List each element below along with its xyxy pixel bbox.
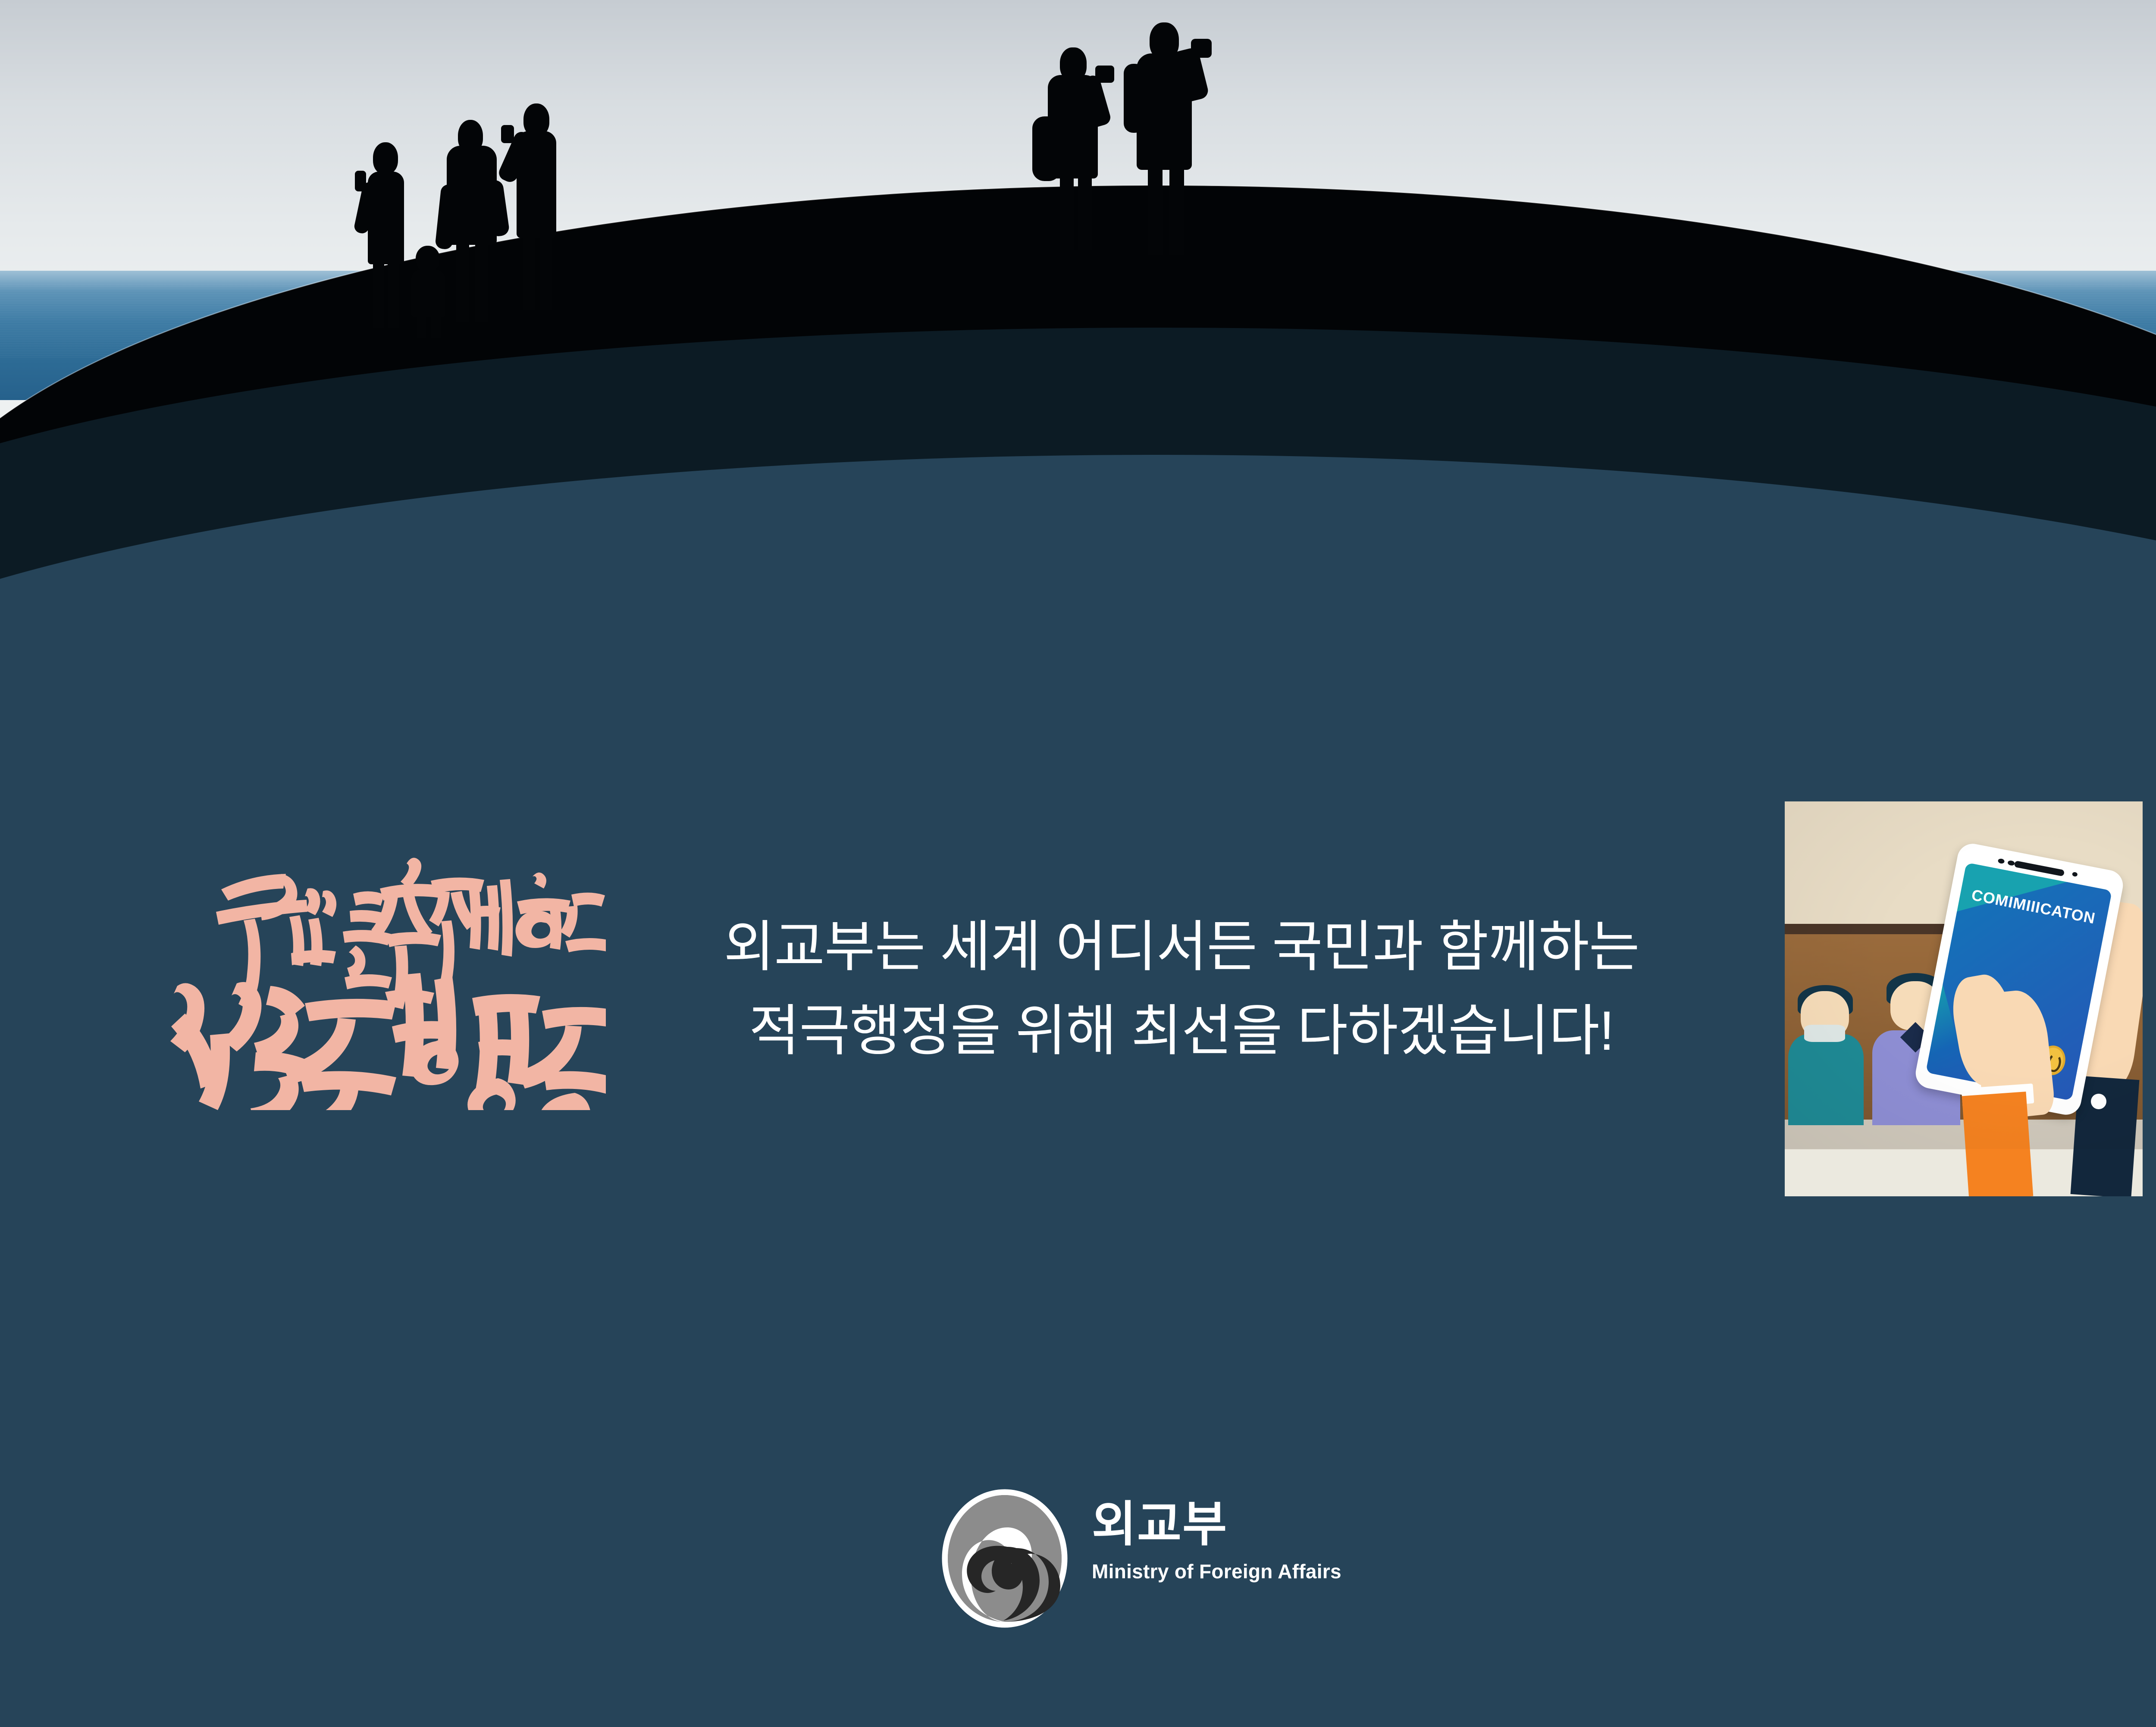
silhouette-person-3 (508, 103, 564, 310)
ministry-name-en: Ministry of Foreign Affairs (1092, 1560, 1341, 1583)
silhouette-person-5 (1125, 22, 1216, 255)
poster-canvas: 외교부는 세계 어디서든 국민과 함께하는 적극행정을 위해 최선을 다하겠습니… (0, 0, 2156, 1727)
logo-text-block: 외교부 Ministry of Foreign Affairs (1092, 1487, 1341, 1583)
slogan-calligraphy (170, 834, 606, 1110)
ministry-name-ko: 외교부 (1092, 1500, 1341, 1549)
footer-logo: 외교부 Ministry of Foreign Affairs (940, 1487, 1414, 1638)
silhouette-person-1 (360, 142, 412, 328)
illus-depth-blur (1785, 801, 2143, 1149)
silhouette-person-4 (1035, 47, 1121, 250)
message-line-1: 외교부는 세계 어디서든 국민과 함께하는 (630, 905, 1733, 989)
main-message: 외교부는 세계 어디서든 국민과 함께하는 적극행정을 위해 최선을 다하겠습니… (630, 905, 1733, 1073)
illustration-panel: COMIMIIICATON (1785, 801, 2143, 1196)
message-line-2: 적극행정을 위해 최선을 다하겠습니다! (630, 989, 1733, 1073)
silhouette-person-2 (436, 120, 509, 322)
taegeuk-emblem-icon (940, 1487, 1069, 1630)
